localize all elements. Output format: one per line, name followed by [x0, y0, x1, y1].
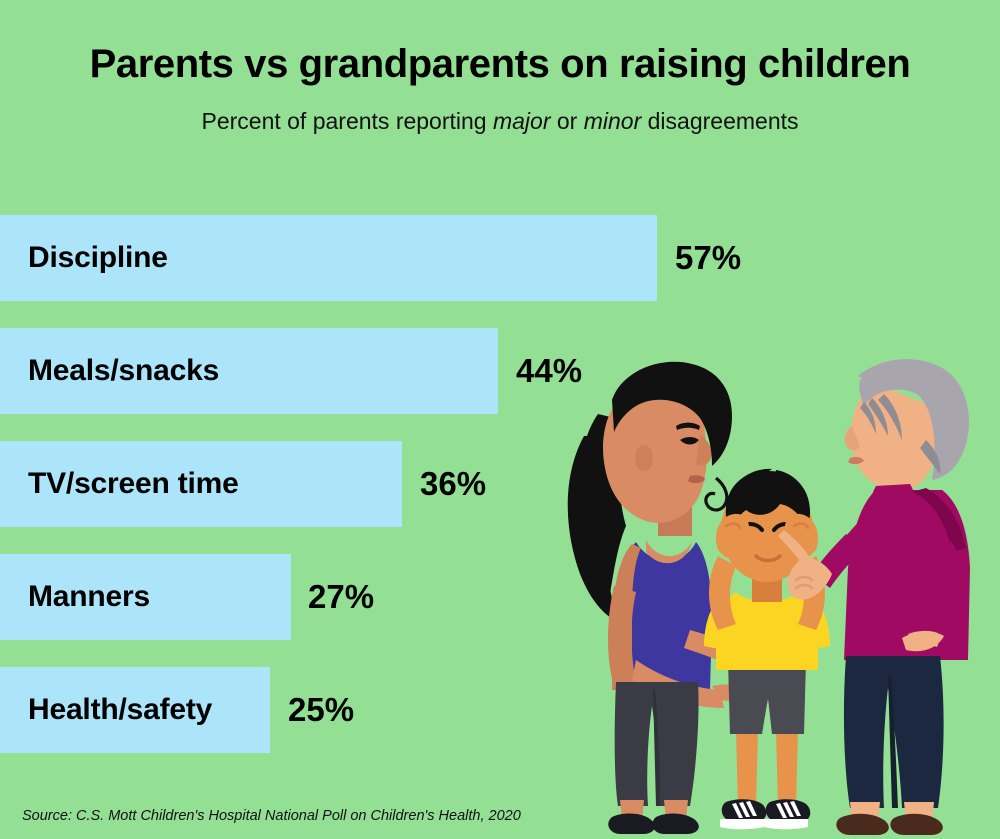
- bar-category-label: Meals/snacks: [28, 328, 219, 414]
- source-note: Source: C.S. Mott Children's Hospital Na…: [22, 808, 521, 824]
- child-sneaker-left: [720, 799, 766, 829]
- bar-value-label: 36%: [420, 441, 486, 527]
- bar-category-label: Manners: [28, 554, 150, 640]
- child-sneaker-right: [764, 799, 810, 829]
- bar-category-label: Health/safety: [28, 667, 212, 753]
- bar-value-label: 57%: [675, 215, 741, 301]
- bar-category-label: Discipline: [28, 215, 168, 301]
- mother-child-grandmother-illustration: [540, 330, 1000, 839]
- bar-value-label: 27%: [308, 554, 374, 640]
- child-figure: [704, 469, 830, 829]
- infographic-root: Parents vs grandparents on raising child…: [0, 0, 1000, 839]
- bar-category-label: TV/screen time: [28, 441, 239, 527]
- bar-value-label: 25%: [288, 667, 354, 753]
- grandmother-figure: [778, 359, 970, 835]
